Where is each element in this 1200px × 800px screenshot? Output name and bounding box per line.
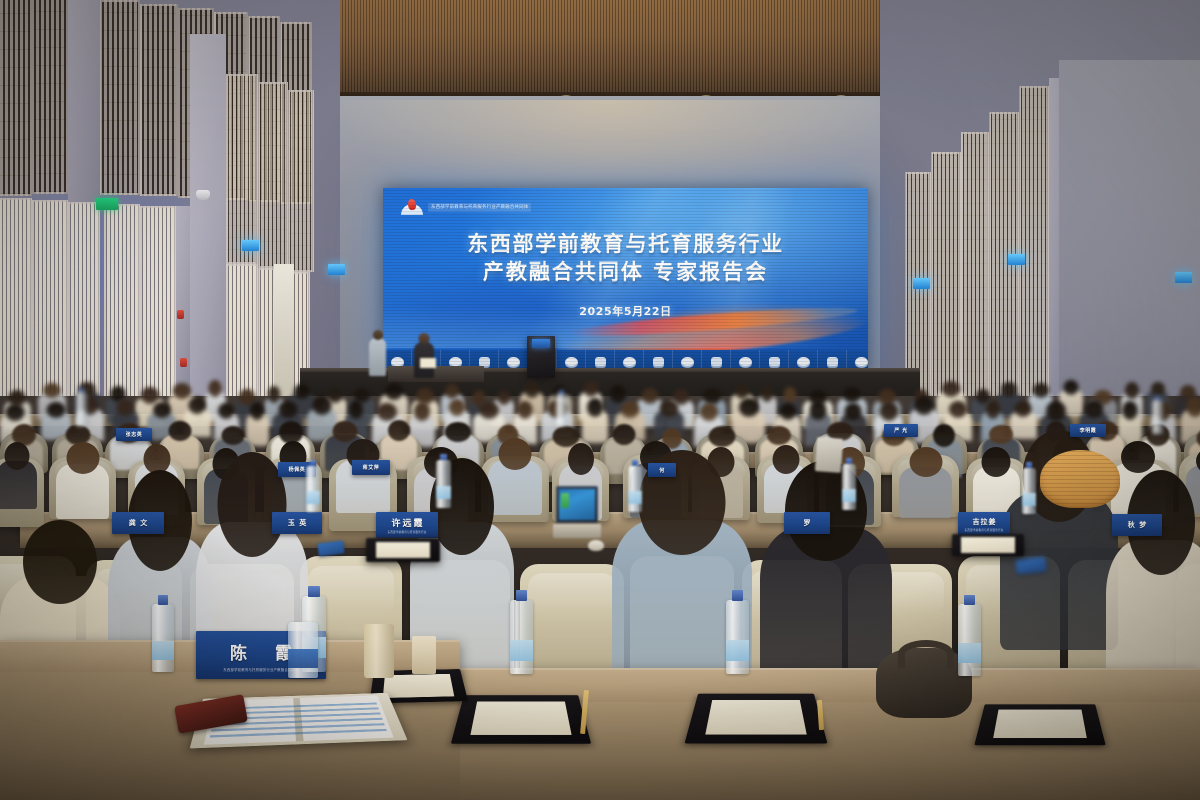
- name-placard-zhang-zhiying: 张志英: [116, 428, 152, 441]
- head-table: [388, 366, 484, 382]
- name-placard-li-mingxia: 李明霞: [1070, 424, 1106, 437]
- fire-alarm-device: [180, 358, 187, 367]
- placard-subtitle: 东西部学前教育与托育服务行业: [964, 528, 1003, 532]
- audience-head: [583, 381, 598, 397]
- thermos-flask[interactable]: [364, 624, 394, 678]
- water-bottle[interactable]: [1152, 400, 1163, 434]
- wood-slat-soffit: [330, 0, 890, 96]
- water-bottle[interactable]: [726, 600, 749, 674]
- name-placard-xu-yuanxia: 许远霞 东西部学前教育与托育服务行业: [376, 512, 438, 538]
- audience-head: [949, 401, 967, 418]
- water-bottle[interactable]: [288, 622, 318, 678]
- audience-head: [660, 400, 679, 417]
- lattice-panel: [288, 90, 314, 272]
- water-bottle[interactable]: [1022, 468, 1036, 514]
- audience-head: [610, 385, 627, 403]
- water-bottle[interactable]: [306, 466, 320, 512]
- water-bottle[interactable]: [556, 394, 567, 426]
- lattice-panel-lower: [104, 204, 140, 398]
- audience-head: [1064, 380, 1079, 395]
- audience-head: [915, 396, 934, 415]
- audience-head: [1015, 401, 1032, 417]
- placard-subtitle: 东西部学前教育与托育服务行业: [387, 530, 426, 534]
- audience-head: [349, 400, 363, 419]
- audience-head: [414, 402, 430, 421]
- placard-name: 许远霞: [389, 516, 424, 529]
- lattice-panel-lower: [0, 198, 32, 398]
- fire-alarm-device: [177, 310, 184, 319]
- placard-name: 秋 梦: [1127, 520, 1147, 530]
- water-bottle[interactable]: [842, 464, 856, 510]
- audience-head: [445, 422, 471, 442]
- audience-member: [899, 447, 952, 519]
- audience-head: [445, 384, 459, 399]
- audience-head: [189, 397, 206, 414]
- standing-staff: [369, 338, 386, 376]
- lattice-panel: [140, 4, 178, 196]
- document-folder[interactable]: [684, 694, 827, 744]
- audience-head: [739, 398, 759, 417]
- audience-member: [336, 439, 390, 513]
- placard-name: 严 光: [894, 427, 908, 434]
- audience-head: [1001, 382, 1017, 397]
- audience-head: [525, 381, 540, 398]
- audience-head: [767, 426, 791, 445]
- audience-head: [1046, 401, 1066, 421]
- audience-head: [218, 452, 287, 557]
- audience-head: [218, 403, 234, 419]
- audience-head: [250, 402, 264, 420]
- wall-pillar: [176, 206, 190, 398]
- wall-pillar: [1049, 78, 1059, 398]
- audience-head: [568, 443, 594, 475]
- lattice-panel-lower: [68, 202, 100, 398]
- water-bottle[interactable]: [510, 600, 533, 674]
- placard-name: 杨佩英: [289, 466, 306, 473]
- document-folder[interactable]: [366, 538, 440, 562]
- audience-head: [1151, 382, 1165, 396]
- audience-head: [933, 424, 955, 447]
- lattice-panel: [32, 0, 68, 194]
- audience-head: [66, 442, 99, 474]
- audience-head: [385, 383, 403, 400]
- name-placard-qiu-meng: 秋 梦: [1112, 514, 1162, 536]
- audience-head: [1121, 441, 1155, 473]
- straw-hat: [1040, 450, 1120, 508]
- podium-screen: [532, 339, 550, 348]
- audience-head: [942, 381, 960, 397]
- placard-name: 蒋艾萍: [363, 464, 380, 471]
- audience-member: [760, 460, 892, 700]
- handbag-strap: [898, 640, 954, 668]
- placard-name: 罗: [803, 518, 812, 528]
- wall-pillar: [68, 0, 100, 202]
- audience-head: [909, 447, 942, 477]
- document-folder[interactable]: [974, 704, 1105, 745]
- audience-head: [1085, 400, 1104, 418]
- document-folder[interactable]: [952, 534, 1024, 556]
- placard-name: 何: [659, 467, 665, 474]
- accent-light: [1175, 272, 1192, 283]
- audience-head: [169, 421, 192, 441]
- right-wall-plain: [1059, 60, 1200, 398]
- door-gap: [274, 264, 294, 398]
- audience-head: [1125, 382, 1139, 399]
- audience-head: [587, 398, 603, 417]
- computer-mouse[interactable]: [588, 540, 604, 551]
- lattice-panel: [226, 74, 258, 264]
- audience-head: [700, 403, 718, 421]
- audience-head: [1033, 383, 1049, 398]
- security-camera-icon: [196, 190, 210, 200]
- audience-member: [0, 442, 37, 509]
- accent-light: [242, 240, 259, 251]
- audience-head: [518, 401, 533, 419]
- lattice-panel-lower: [140, 206, 176, 398]
- water-bottle[interactable]: [958, 604, 981, 676]
- audience-head: [479, 402, 499, 419]
- audience-head: [4, 442, 29, 470]
- audience-head: [735, 384, 749, 399]
- lattice-panel: [100, 0, 140, 195]
- name-placard-he: 何: [648, 463, 676, 477]
- name-placard-luo: 罗: [784, 512, 830, 534]
- water-bottle[interactable]: [436, 460, 451, 508]
- audience-head: [449, 399, 465, 416]
- audience-head: [709, 426, 736, 447]
- audience-head: [6, 404, 25, 421]
- lattice-panel-lower: [32, 200, 68, 398]
- document-folder[interactable]: [451, 695, 591, 744]
- audience-head: [845, 403, 862, 420]
- screen-scanlines: [383, 188, 868, 374]
- led-stage-screen: 东西部学前教育与托育服务行业产教融合共同体 东西部学前教育与托育服务行业 产教融…: [383, 188, 868, 374]
- accent-light: [1008, 254, 1025, 265]
- accent-light: [328, 264, 345, 275]
- audience-head: [46, 402, 65, 418]
- lattice-panel: [258, 82, 288, 268]
- audience-head: [23, 520, 97, 604]
- smartphone[interactable]: [1015, 557, 1046, 575]
- exit-sign[interactable]: [96, 198, 118, 210]
- placard-name: 龚 文: [128, 518, 148, 528]
- conference-hall-photo: 东西部学前教育与托育服务行业产教融合共同体 东西部学前教育与托育服务行业 产教融…: [0, 0, 1200, 800]
- audience-head: [209, 380, 222, 397]
- tablet-device[interactable]: [815, 437, 843, 473]
- placard-name: 李明霞: [1080, 427, 1097, 434]
- audience-member: [56, 442, 109, 519]
- name-placard-yan-guang: 严 光: [884, 424, 918, 437]
- audience-head: [221, 426, 244, 445]
- audience-head: [783, 387, 796, 404]
- audience-head: [1186, 397, 1200, 417]
- podium: [527, 336, 555, 378]
- placard-name: 吉拉姜: [972, 517, 997, 527]
- audience-head: [43, 383, 60, 398]
- water-bottle[interactable]: [152, 604, 174, 672]
- name-placard-gong-wen: 龚 文: [112, 512, 164, 534]
- water-bottle[interactable]: [628, 466, 642, 512]
- audience-head: [810, 401, 827, 420]
- audience-head: [843, 387, 861, 403]
- lattice-panel: [1019, 86, 1049, 398]
- lattice-panel: [931, 152, 961, 398]
- audience-head: [621, 401, 640, 418]
- audience-head: [880, 402, 898, 421]
- audience-head: [1122, 401, 1137, 420]
- name-placard-jilajiang: 吉拉姜 东西部学前教育与托育服务行业: [958, 512, 1010, 536]
- laptop[interactable]: [556, 486, 598, 538]
- audience-head: [117, 399, 134, 416]
- placard-name: 玉 英: [287, 518, 307, 528]
- name-placard-jiang-aiping: 蒋艾萍: [352, 460, 390, 475]
- lattice-panel-lower: [226, 264, 258, 398]
- audience-head: [388, 420, 410, 441]
- speaker-papers: [420, 358, 436, 368]
- placard-name: 张志英: [126, 431, 143, 438]
- audience-head: [986, 400, 1000, 419]
- wall-column: [190, 34, 226, 398]
- water-bottle[interactable]: [76, 392, 87, 426]
- name-placard-yu-ying: 玉 英: [272, 512, 322, 534]
- accent-light: [913, 278, 930, 289]
- audience-head: [377, 403, 397, 421]
- audience-head: [312, 396, 331, 415]
- paper-cup[interactable]: [412, 636, 436, 674]
- audience-head: [779, 403, 796, 420]
- audience-head: [278, 401, 297, 418]
- lattice-panel: [0, 0, 32, 196]
- lattice-panel: [961, 132, 989, 398]
- audience-head: [153, 402, 171, 418]
